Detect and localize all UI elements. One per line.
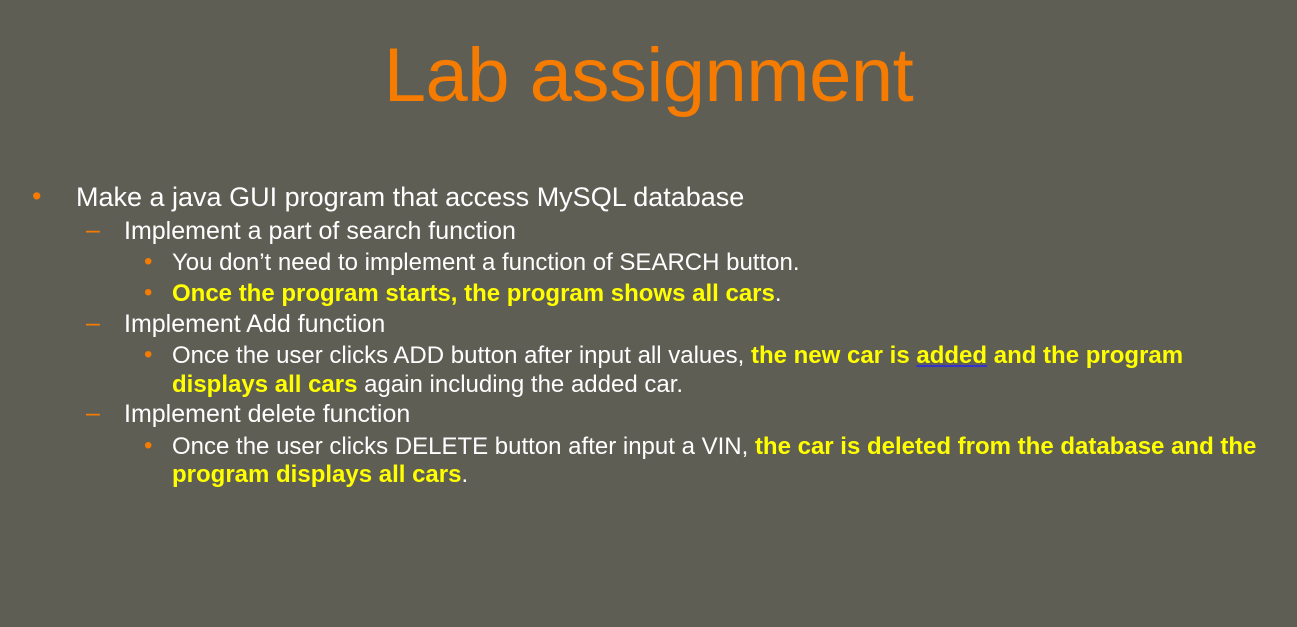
bullet-dash-icon: – — [86, 400, 124, 431]
bullet-glyph: • — [32, 180, 41, 213]
bullet-dot-icon: • — [144, 342, 172, 371]
body-text-run: Once the user clicks DELETE button after… — [172, 433, 755, 460]
body-text-run: . — [775, 280, 782, 307]
bullet-dash-icon: – — [86, 217, 124, 248]
bullet-item-level3: •Once the user clicks DELETE button afte… — [0, 433, 1297, 490]
bullet-glyph: – — [86, 215, 100, 246]
bullet-text: Implement a part of search function — [124, 217, 1283, 247]
bullet-item-level2: –Implement a part of search function — [0, 217, 1297, 248]
body-text-run: Implement a part of search function — [124, 217, 516, 245]
bullet-text: Once the user clicks ADD button after in… — [172, 342, 1283, 399]
body-text-run: Once the user clicks ADD button after in… — [172, 342, 751, 369]
body-text-run: again including the added car. — [357, 371, 683, 398]
bullet-text: You don’t need to implement a function o… — [172, 249, 1283, 277]
body-text-run: You don’t need to implement a function o… — [172, 249, 800, 276]
bullet-item-level1: •Make a java GUI program that access MyS… — [0, 182, 1297, 215]
body-text-run: . — [461, 461, 468, 488]
bullet-item-level3: •Once the program starts, the program sh… — [0, 280, 1297, 309]
bullet-text: Make a java GUI program that access MySQ… — [76, 182, 1283, 214]
slide-canvas: Lab assignment •Make a java GUI program … — [0, 0, 1297, 627]
bullet-item-level3: •Once the user clicks ADD button after i… — [0, 342, 1297, 399]
slide-body-list: •Make a java GUI program that access MyS… — [0, 182, 1297, 490]
bullet-item-level3: •You don’t need to implement a function … — [0, 249, 1297, 278]
body-text-run: Implement Add function — [124, 310, 385, 338]
emphasis-text: the new car is — [751, 342, 916, 369]
emphasis-text: Once the program starts, the program sho… — [172, 280, 775, 307]
bullet-item-level2: –Implement delete function — [0, 400, 1297, 431]
bullet-glyph: – — [86, 398, 100, 429]
page-title: Lab assignment — [0, 38, 1297, 114]
bullet-dot-icon: • — [32, 182, 76, 215]
emphasis-underlined-text: added — [916, 342, 987, 369]
bullet-text: Once the program starts, the program sho… — [172, 280, 1283, 308]
body-text-run: Make a java GUI program that access MySQ… — [76, 182, 744, 212]
bullet-text: Implement Add function — [124, 310, 1283, 340]
bullet-dot-icon: • — [144, 433, 172, 462]
bullet-text: Once the user clicks DELETE button after… — [172, 433, 1283, 490]
bullet-glyph: • — [144, 247, 152, 276]
body-text-run: Implement delete function — [124, 400, 410, 428]
bullet-glyph: • — [144, 431, 152, 460]
bullet-glyph: • — [144, 278, 152, 307]
bullet-item-level2: –Implement Add function — [0, 310, 1297, 341]
bullet-glyph: – — [86, 308, 100, 339]
bullet-dot-icon: • — [144, 249, 172, 278]
bullet-dash-icon: – — [86, 310, 124, 341]
bullet-dot-icon: • — [144, 280, 172, 309]
bullet-text: Implement delete function — [124, 400, 1283, 430]
bullet-glyph: • — [144, 340, 152, 369]
